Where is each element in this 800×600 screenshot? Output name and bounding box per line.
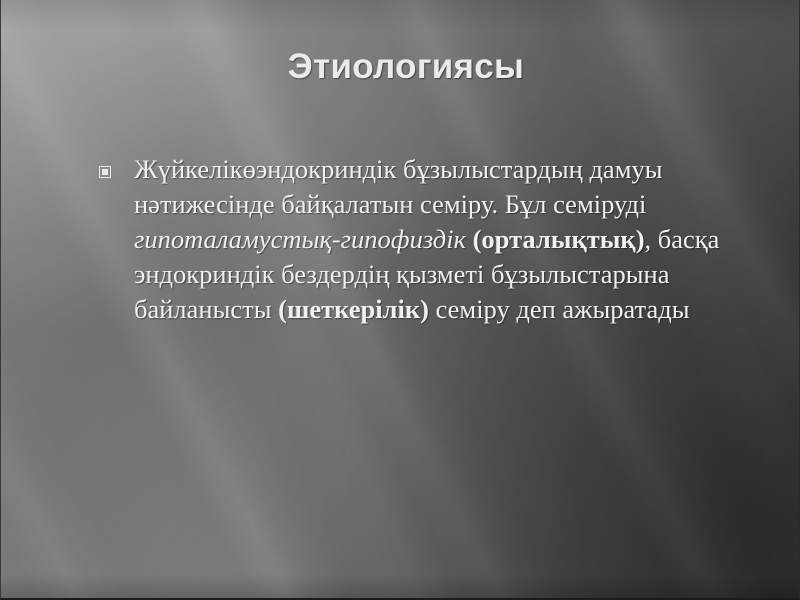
text-run-bold: (орталықтық) <box>473 224 645 254</box>
bullet-item-text: Жүйкелікөэндокриндік бұзылыстардың дамуы… <box>134 152 759 327</box>
bullet-list-item: Жүйкелікөэндокриндік бұзылыстардың дамуы… <box>99 152 789 327</box>
slide-content: Этиологиясы Жүйкелікөэндокриндік бұзылыс… <box>1 0 799 598</box>
slide-title: Этиологиясы <box>61 48 751 87</box>
text-run-italic: гипоталамустық-гипофиздік <box>134 224 466 254</box>
text-run-bold: (шеткерілік) <box>278 294 429 324</box>
text-run-normal: семіру деп ажыратады <box>429 294 690 324</box>
square-bullet-icon <box>99 166 111 178</box>
text-run-normal: Жүйкелікөэндокриндік бұзылыстардың дамуы… <box>134 154 663 219</box>
presentation-slide: Этиологиясы Жүйкелікөэндокриндік бұзылыс… <box>0 0 800 600</box>
text-run-normal <box>466 224 473 254</box>
